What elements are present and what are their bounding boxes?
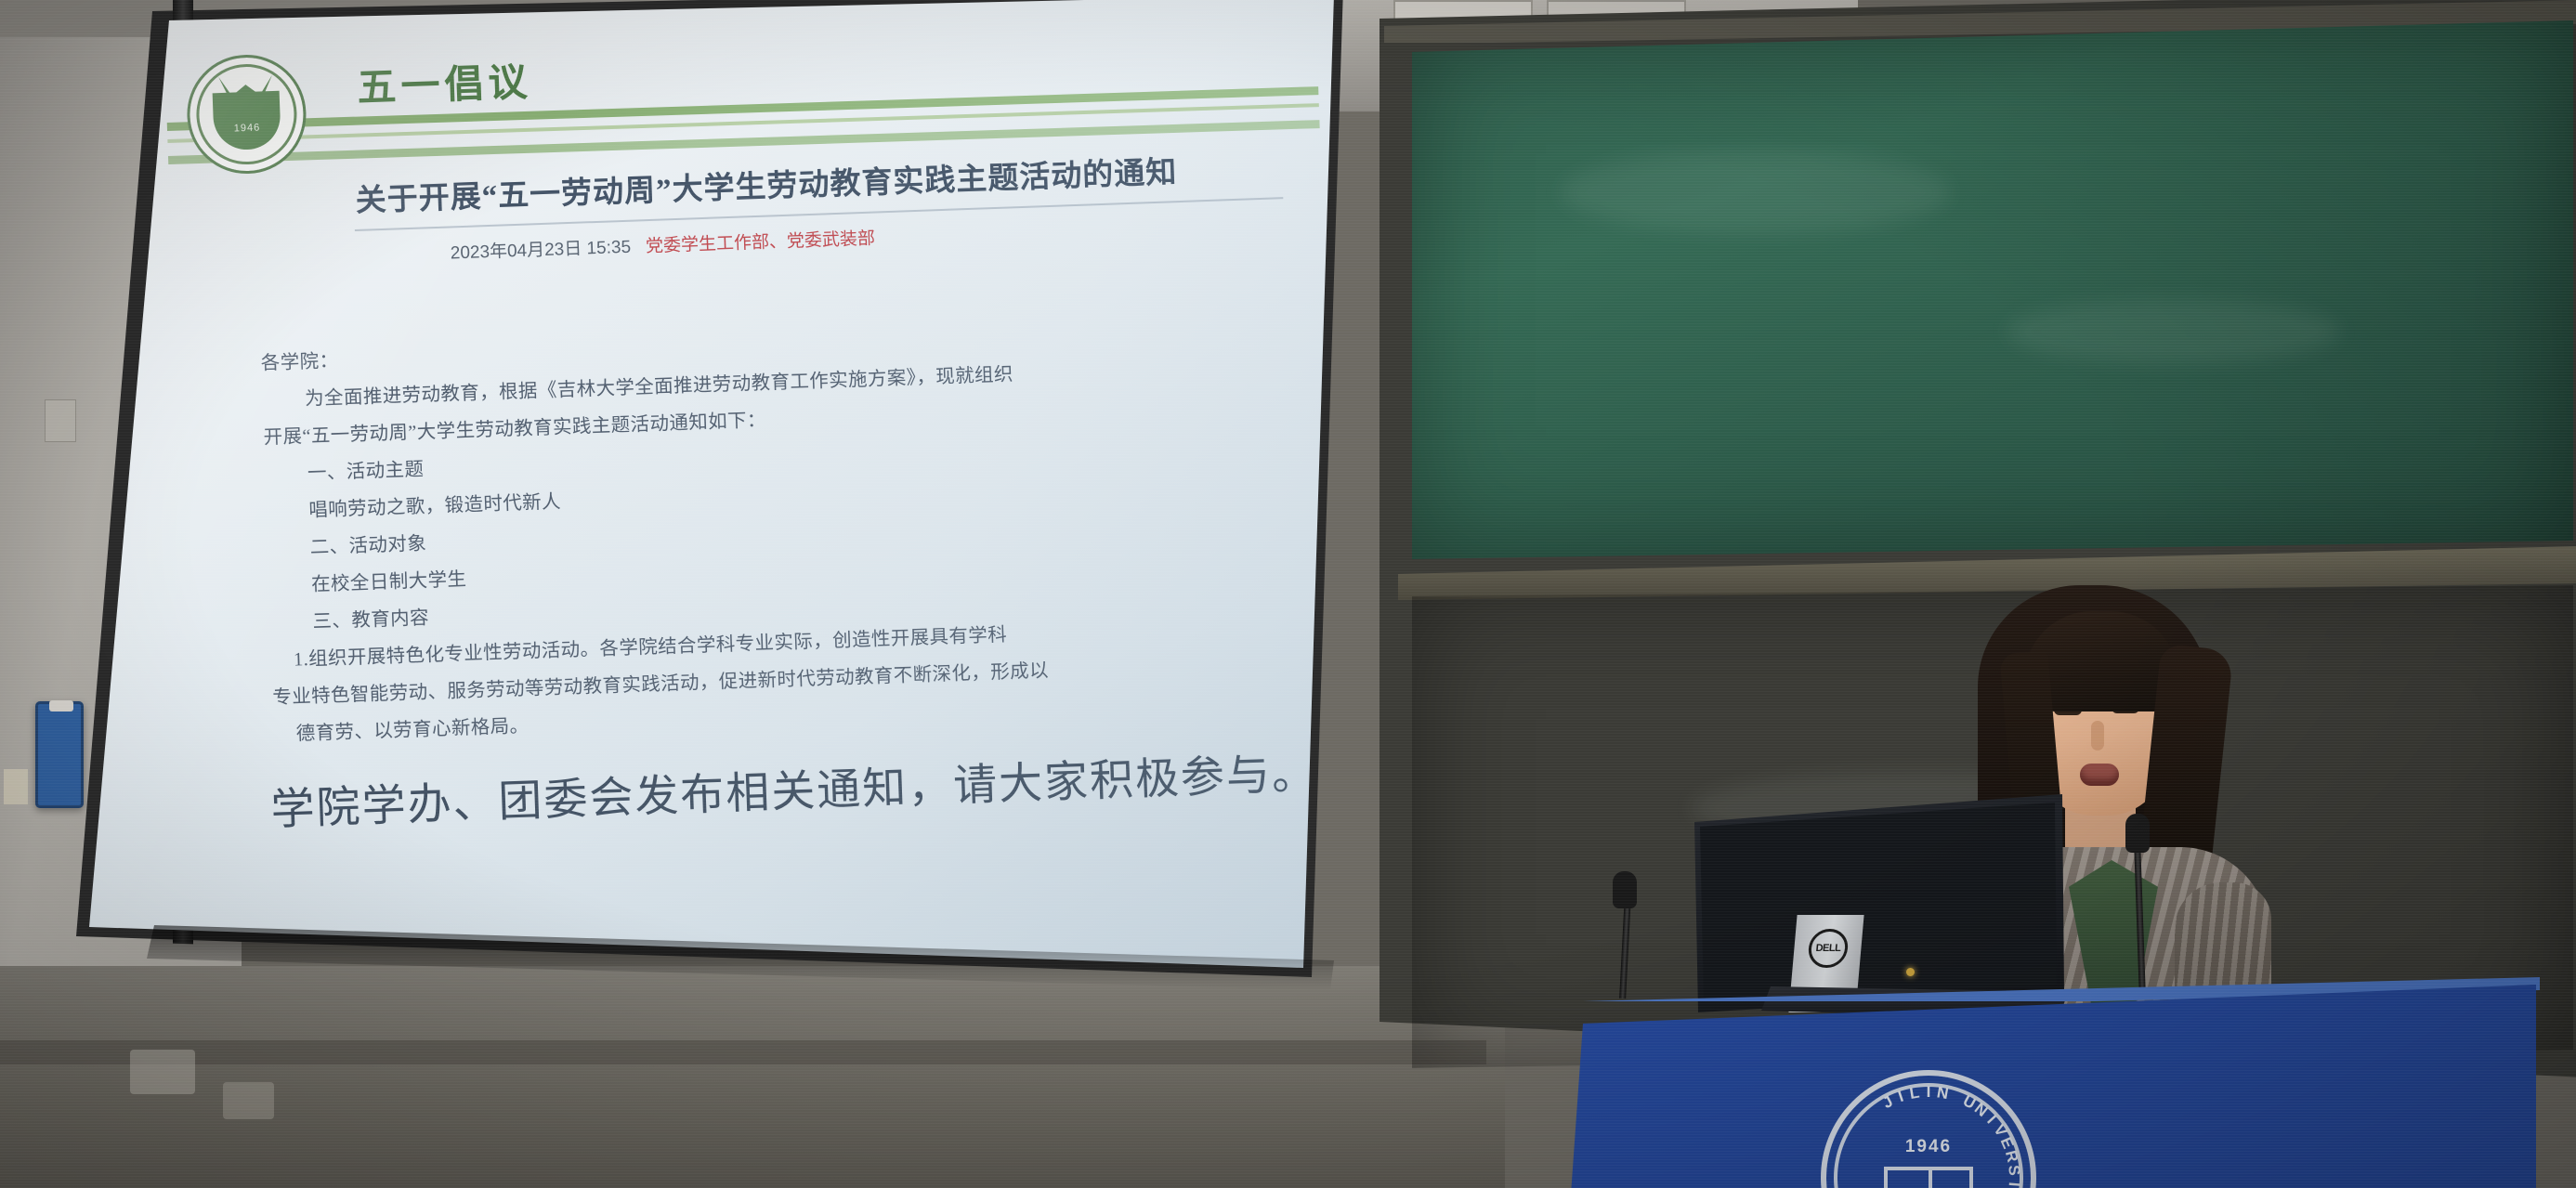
seal-ring-char: I [2004, 1181, 2022, 1188]
seal-ring-char: I [1896, 1087, 1907, 1106]
seal-ring-char: R [2001, 1149, 2022, 1166]
monitor-screen[interactable] [1696, 801, 2059, 999]
projection-screen: 1946 五一倡议 关于开展“五一劳动周”大学生劳动教育实践主题活动的通知 20… [71, 0, 1343, 999]
power-led-icon [1906, 968, 1915, 976]
slide-root: 1946 五一倡议 关于开展“五一劳动周”大学生劳动教育实践主题活动的通知 20… [164, 3, 1343, 958]
wall-scuff-right [223, 1082, 274, 1119]
mouth [2080, 764, 2119, 786]
seal-ring-char: L [1908, 1083, 1921, 1103]
slide-callout: 学院学办、团委会发布相关通知，请大家积极参与。 [269, 738, 1293, 837]
blackboard-panel-upper [1412, 20, 2573, 559]
byline-department: 党委学生工作部、党委武装部 [646, 229, 876, 257]
slide-brand-title: 五一倡议 [356, 50, 532, 113]
microphone-head-right[interactable] [2125, 814, 2150, 853]
slide-byline: 2023年04月23日 15:35党委学生工作部、党委武装部 [450, 212, 1230, 264]
seal-shield-icon [213, 91, 281, 150]
byline-date: 2023年04月23日 15:35 [450, 238, 631, 264]
nose [2091, 721, 2104, 751]
university-seal-icon: JILIN UNIVERSITY · CHINA · 1946 [1821, 1070, 2036, 1188]
seal-ring-char: J [1879, 1091, 1897, 1113]
baseboard [0, 1040, 1486, 1064]
screen-surface: 1946 五一倡议 关于开展“五一劳动周”大学生劳动教育实践主题活动的通知 20… [71, 0, 1343, 999]
projected-slide: 1946 五一倡议 关于开展“五一劳动周”大学生劳动教育实践主题活动的通知 20… [71, 0, 1343, 999]
seal-window-icon [1884, 1167, 1973, 1188]
seal-year-label: 1946 [234, 122, 261, 134]
wall-card [4, 769, 28, 804]
seal-founding-year: 1946 [1905, 1137, 1952, 1157]
seal-ring-char: I [1927, 1083, 1932, 1102]
seal-ring-char: N [1935, 1083, 1950, 1103]
microphone-head-left[interactable] [1613, 871, 1637, 908]
slide-body-text: 各学院： 为全面推进劳动教育，根据《吉林大学全面推进劳动教育工作实施方案》，现就… [260, 311, 1287, 754]
wall-scuff-left [130, 1050, 195, 1094]
seal-ring-char: S [2004, 1164, 2023, 1177]
lecture-hall-scene: 1946 五一倡议 关于开展“五一劳动周”大学生劳动教育实践主题活动的通知 20… [0, 0, 2576, 1188]
